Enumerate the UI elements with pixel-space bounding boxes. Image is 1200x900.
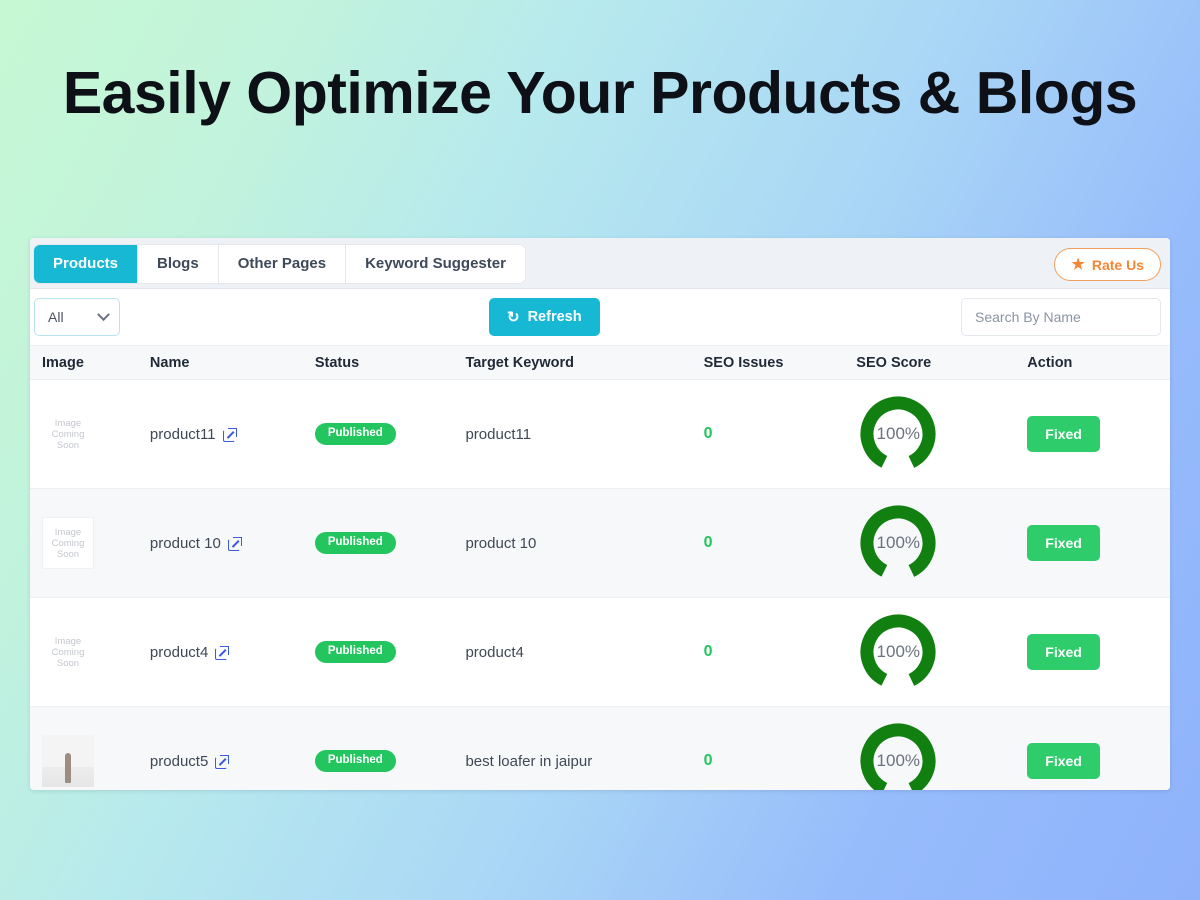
cell-action: Fixed [1017,598,1170,707]
filter-select[interactable]: All [34,298,120,336]
seo-score-label: 100% [856,719,940,790]
chevron-down-icon [97,308,110,321]
name-wrapper: product5 [150,753,295,770]
cell-image: Image Coming Soon [30,489,140,598]
cell-status: Published [305,598,456,707]
cell-status: Published [305,707,456,791]
table-header-row: Image Name Status Target Keyword SEO Iss… [30,346,1170,380]
cell-seo-score: 100% [846,489,1017,598]
tab-bar: Products Blogs Other Pages Keyword Sugge… [30,238,1170,289]
cell-image: Image Coming Soon [30,598,140,707]
image-placeholder: Image Coming Soon [42,517,94,569]
filter-select-value: All [48,309,64,325]
refresh-button[interactable]: ↻ Refresh [489,298,600,336]
rate-us-label: Rate Us [1092,257,1144,273]
name-wrapper: product11 [150,426,295,443]
seo-score-label: 100% [856,501,940,585]
tab-products[interactable]: Products [34,245,138,283]
status-badge: Published [315,423,396,446]
fixed-button[interactable]: Fixed [1027,634,1100,670]
cell-image [30,707,140,791]
star-icon: ★ [1071,257,1084,272]
hero-section: Easily Optimize Your Products & Blogs [0,62,1200,126]
product-name: product4 [150,644,208,661]
seo-score-gauge: 100% [856,392,940,476]
cell-seo-score: 100% [846,598,1017,707]
status-badge: Published [315,641,396,664]
cell-name: product11 [140,380,305,489]
name-wrapper: product4 [150,644,295,661]
cell-status: Published [305,380,456,489]
column-header-action: Action [1017,346,1170,380]
cell-target-keyword: product4 [455,598,693,707]
fixed-button[interactable]: Fixed [1027,416,1100,452]
column-header-image: Image [30,346,140,380]
external-link-icon[interactable] [215,755,228,768]
cell-target-keyword: product11 [455,380,693,489]
refresh-icon: ↻ [507,310,520,325]
tab-other-pages[interactable]: Other Pages [219,245,346,283]
column-header-status: Status [305,346,456,380]
seo-score-gauge: 100% [856,719,940,790]
app-card: Products Blogs Other Pages Keyword Sugge… [30,238,1170,790]
cell-seo-issues: 0 [694,707,847,791]
cell-image: Image Coming Soon [30,380,140,489]
product-name: product 10 [150,535,221,552]
table-body: Image Coming Soonproduct11Publishedprodu… [30,380,1170,791]
status-badge: Published [315,532,396,555]
table-row: Image Coming Soonproduct11Publishedprodu… [30,380,1170,489]
fixed-button[interactable]: Fixed [1027,525,1100,561]
cell-action: Fixed [1017,380,1170,489]
external-link-arrow [226,431,233,438]
cell-seo-issues: 0 [694,598,847,707]
external-link-arrow [232,540,239,547]
external-link-icon[interactable] [223,428,236,441]
rate-us-button[interactable]: ★ Rate Us [1054,248,1161,281]
column-header-name: Name [140,346,305,380]
column-header-seo-score: SEO Score [846,346,1017,380]
cell-seo-score: 100% [846,380,1017,489]
seo-score-label: 100% [856,610,940,694]
product-name: product5 [150,753,208,770]
cell-status: Published [305,489,456,598]
fixed-button[interactable]: Fixed [1027,743,1100,779]
refresh-label: Refresh [528,309,582,325]
cell-target-keyword: best loafer in jaipur [455,707,693,791]
seo-issues-count: 0 [704,534,713,551]
cell-seo-score: 100% [846,707,1017,791]
cell-name: product4 [140,598,305,707]
tab-group: Products Blogs Other Pages Keyword Sugge… [34,245,525,283]
status-badge: Published [315,750,396,773]
name-wrapper: product 10 [150,535,295,552]
seo-issues-count: 0 [704,643,713,660]
cell-target-keyword: product 10 [455,489,693,598]
seo-score-gauge: 100% [856,610,940,694]
seo-score-gauge: 100% [856,501,940,585]
page-title: Easily Optimize Your Products & Blogs [0,62,1200,126]
external-link-icon[interactable] [215,646,228,659]
column-header-target-keyword: Target Keyword [455,346,693,380]
table-head: Image Name Status Target Keyword SEO Iss… [30,346,1170,380]
search-input[interactable] [961,298,1161,336]
controls-row: All ↻ Refresh [30,289,1170,345]
cell-name: product 10 [140,489,305,598]
external-link-arrow [219,649,226,656]
seo-issues-count: 0 [704,425,713,442]
cell-seo-issues: 0 [694,489,847,598]
seo-score-label: 100% [856,392,940,476]
image-placeholder: Image Coming Soon [42,626,94,678]
product-name: product11 [150,426,216,443]
external-link-icon[interactable] [228,537,241,550]
products-table: Image Name Status Target Keyword SEO Iss… [30,345,1170,790]
product-thumbnail [42,735,94,787]
image-placeholder: Image Coming Soon [42,408,94,460]
cell-seo-issues: 0 [694,380,847,489]
seo-issues-count: 0 [704,752,713,769]
cell-name: product5 [140,707,305,791]
tab-keyword-suggester[interactable]: Keyword Suggester [346,245,525,283]
column-header-seo-issues: SEO Issues [694,346,847,380]
cell-action: Fixed [1017,489,1170,598]
cell-action: Fixed [1017,707,1170,791]
table-row: Image Coming Soonproduct4Publishedproduc… [30,598,1170,707]
external-link-arrow [219,758,226,765]
tab-blogs[interactable]: Blogs [138,245,219,283]
table-row: product5Publishedbest loafer in jaipur01… [30,707,1170,791]
table-row: Image Coming Soonproduct 10Publishedprod… [30,489,1170,598]
